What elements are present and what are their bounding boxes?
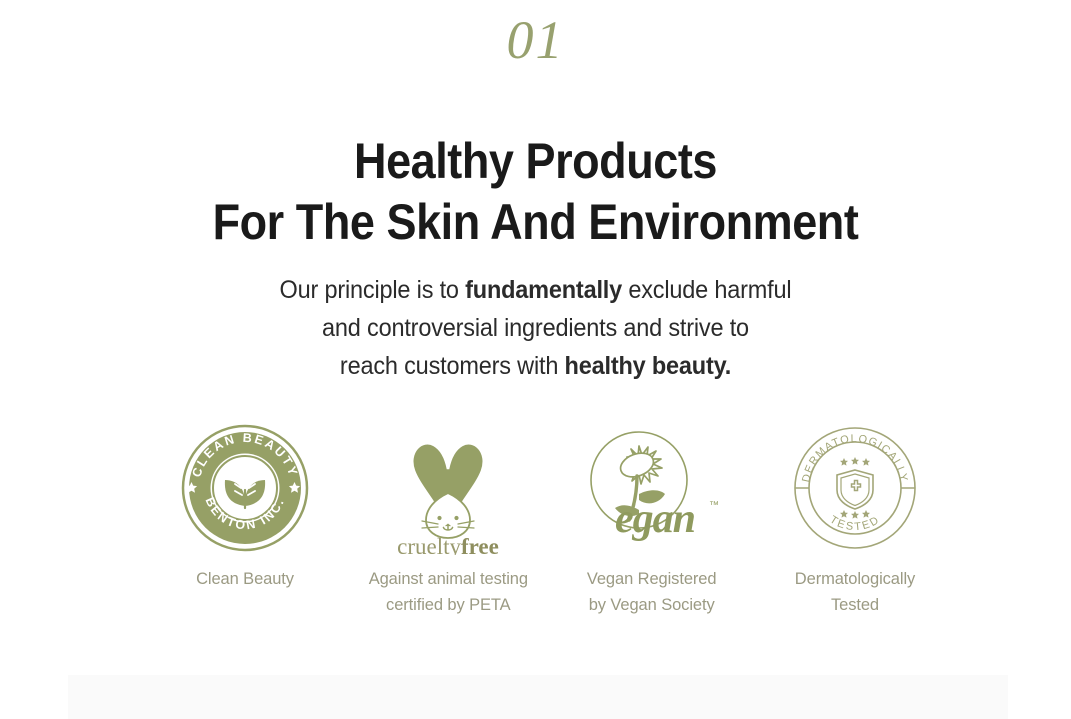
svg-text:™: ™ bbox=[709, 500, 719, 511]
headline-line-2: For The Skin And Environment bbox=[54, 192, 1018, 253]
headline-line-1: Healthy Products bbox=[54, 131, 1018, 192]
svg-text:crueltyfree: crueltyfree bbox=[397, 534, 499, 555]
caption-line-1: Vegan Registered bbox=[587, 566, 717, 592]
caption-line-2: by Vegan Society bbox=[587, 592, 717, 618]
badge-clean-beauty: CLEAN BEAUTY BENTON INC. bbox=[150, 418, 340, 592]
badge-cruelty-free: crueltyfree Against animal testing certi… bbox=[353, 418, 543, 618]
body-line-3-text-a: reach customers with bbox=[340, 352, 565, 380]
bottom-panel bbox=[68, 675, 1008, 719]
clean-beauty-seal-icon: CLEAN BEAUTY BENTON INC. bbox=[179, 418, 311, 558]
caption-line-1: Clean Beauty bbox=[196, 566, 294, 592]
caption-line-1: Dermatologically bbox=[795, 566, 915, 592]
body-line-1: Our principle is to fundamentally exclud… bbox=[32, 271, 1039, 309]
caption-line-2: Tested bbox=[795, 592, 915, 618]
body-line-2: and controversial ingredients and strive… bbox=[32, 309, 1039, 347]
badge-dermatologically-tested: DERMATOLOGICALLY TESTED bbox=[760, 418, 950, 618]
dermatologically-tested-seal-icon: DERMATOLOGICALLY TESTED bbox=[789, 418, 921, 558]
caption-line-1: Against animal testing bbox=[369, 566, 528, 592]
badge-caption: Dermatologically Tested bbox=[795, 566, 915, 618]
body-line-1-text-a: Our principle is to bbox=[280, 276, 466, 304]
section-number: 01 bbox=[0, 8, 1071, 73]
badge-vegan-registered: egan ™ Vegan Registered by Vegan Society bbox=[557, 418, 747, 618]
promo-section: 01 Healthy Products For The Skin And Env… bbox=[0, 0, 1071, 719]
badge-caption: Vegan Registered by Vegan Society bbox=[587, 566, 717, 618]
body-paragraph: Our principle is to fundamentally exclud… bbox=[32, 271, 1039, 385]
svg-text:egan: egan bbox=[615, 496, 695, 542]
page-title: Healthy Products For The Skin And Enviro… bbox=[54, 131, 1018, 253]
badge-caption: Clean Beauty bbox=[196, 566, 294, 592]
cruelty-free-bunny-icon: crueltyfree bbox=[380, 418, 516, 558]
vegan-society-sunflower-icon: egan ™ bbox=[577, 418, 727, 558]
badge-caption: Against animal testing certified by PETA bbox=[369, 566, 528, 618]
body-emphasis-fundamentally: fundamentally bbox=[465, 276, 622, 304]
certification-badge-row: CLEAN BEAUTY BENTON INC. bbox=[150, 418, 950, 618]
body-line-3: reach customers with healthy beauty. bbox=[32, 347, 1039, 385]
caption-line-2: certified by PETA bbox=[369, 592, 528, 618]
body-line-1-text-b: exclude harmful bbox=[622, 276, 791, 304]
body-emphasis-healthy-beauty: healthy beauty. bbox=[565, 352, 732, 380]
